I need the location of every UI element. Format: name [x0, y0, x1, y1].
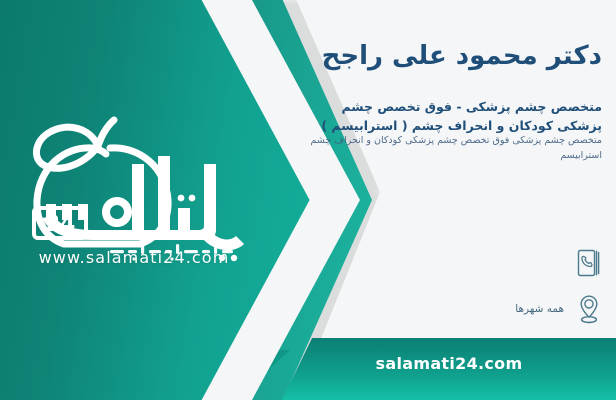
city-row[interactable]: همه شهرها: [515, 292, 606, 326]
phone-row[interactable]: [564, 246, 606, 280]
logo-website-url: www.salamati24.com: [0, 248, 268, 267]
svg-text:24: 24: [45, 212, 76, 237]
doctor-profile-card: 24 www.salamati24.com دکتر محمود علی راج: [0, 0, 616, 400]
phone-book-icon[interactable]: [572, 246, 606, 280]
doctor-name: دکتر محمود علی راجح: [302, 40, 602, 73]
city-row-label: همه شهرها: [515, 303, 564, 315]
doctor-specialty: متخصص چشم پزشکی - فوق تخصص چشم پزشکی کود…: [306, 97, 602, 136]
footer-bar: salamati24.com: [282, 338, 616, 400]
doctor-specialty-secondary: متخصص چشم پزشکی فوق تخصص چشم پزشکی کودکا…: [306, 133, 602, 163]
location-pin-icon[interactable]: [572, 292, 606, 326]
footer-domain: salamati24.com: [282, 354, 616, 373]
